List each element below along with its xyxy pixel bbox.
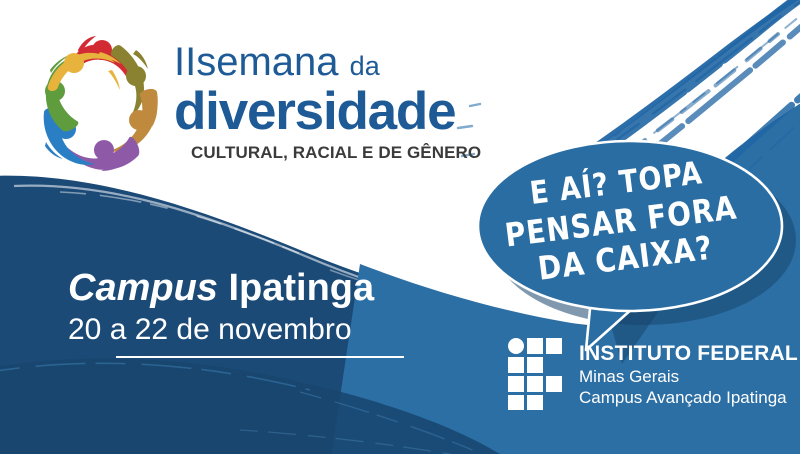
wordmark-tagline: CULTURAL, RACIAL E DE GÊNERO — [191, 143, 484, 163]
diversity-people-circle-icon — [26, 28, 176, 178]
speech-bubble-line-1: E AÍ? TOPA — [528, 158, 704, 212]
campus-word-campus: Campus — [68, 267, 218, 309]
ifmg-text-block: INSTITUTO FEDERAL Minas Gerais Campus Av… — [579, 342, 779, 408]
ifmg-campus-name: Campus Avançado Ipatinga — [579, 387, 779, 408]
wordmark-line-1: IIsemana da — [174, 40, 484, 88]
ifmg-institute-name: INSTITUTO FEDERAL — [579, 342, 779, 366]
wordmark-da: da — [350, 51, 380, 81]
campus-title: Campus Ipatinga — [68, 266, 408, 310]
event-wordmark: IIsemana da diversidade CULTURAL, RACIAL… — [174, 40, 484, 163]
event-logo: IIsemana da diversidade CULTURAL, RACIAL… — [26, 22, 476, 182]
wordmark-edition: II — [174, 40, 196, 84]
speech-bubble-line-2: PENSAR FORA — [503, 190, 739, 252]
ifmg-grid-icon — [508, 338, 568, 410]
campus-info-block: Campus Ipatinga 20 a 22 de novembro — [68, 266, 408, 358]
campus-word-ipatinga: Ipatinga — [228, 267, 374, 309]
speech-bubble-line-3: DA CAIXA? — [536, 231, 715, 286]
poster-canvas: IIsemana da diversidade CULTURAL, RACIAL… — [0, 0, 800, 454]
ifmg-logo: INSTITUTO FEDERAL Minas Gerais Campus Av… — [508, 338, 778, 416]
speech-bubble-text: E AÍ? TOPA PENSAR FORA DA CAIXA? — [467, 125, 774, 319]
wordmark-semana: semana — [196, 40, 338, 84]
speech-bubble: E AÍ? TOPA PENSAR FORA DA CAIXA? — [476, 142, 766, 337]
ifmg-state-name: Minas Gerais — [579, 366, 779, 387]
wordmark-diversidade: diversidade — [174, 85, 484, 138]
figure-purple — [68, 137, 139, 171]
campus-dates: 20 a 22 de novembro — [68, 312, 408, 348]
campus-divider-rule — [116, 356, 404, 358]
